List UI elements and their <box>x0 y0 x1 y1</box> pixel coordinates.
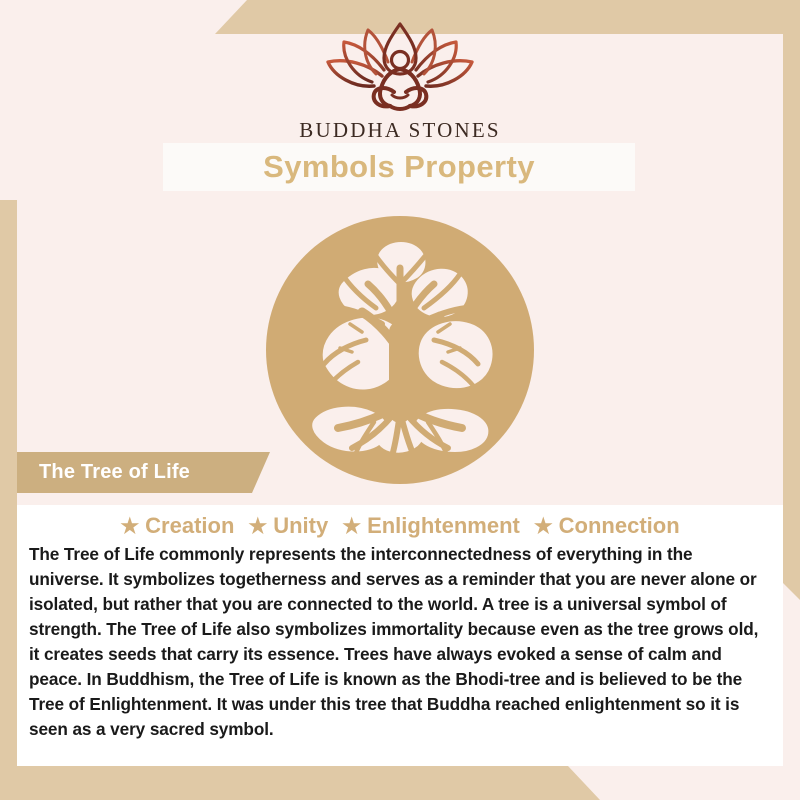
content-card: ★ Creation ★ Unity ★ Enlightenment ★ Con… <box>17 505 783 766</box>
title-banner: Symbols Property <box>163 143 635 191</box>
keyword-label: Unity <box>273 513 328 539</box>
keyword-label: Connection <box>559 513 680 539</box>
keyword-item: ★ Enlightenment <box>342 513 520 539</box>
poster-page: BUDDHA STONES Symbols Property <box>0 0 800 800</box>
lotus-meditation-figure-icon <box>310 18 490 114</box>
tree-of-life-icon <box>262 212 538 488</box>
tree-of-life-figure <box>262 212 538 488</box>
keyword-item: ★ Unity <box>248 513 328 539</box>
star-icon: ★ <box>534 516 553 537</box>
section-tab-tree-of-life: The Tree of Life <box>17 452 270 493</box>
keyword-item: ★ Creation <box>120 513 234 539</box>
star-icon: ★ <box>120 516 139 537</box>
decorative-edge-left <box>0 200 17 800</box>
section-tab-label: The Tree of Life <box>17 461 190 484</box>
decorative-corner-bottom-left <box>0 766 600 800</box>
keyword-list: ★ Creation ★ Unity ★ Enlightenment ★ Con… <box>17 505 783 539</box>
keyword-item: ★ Connection <box>534 513 680 539</box>
star-icon: ★ <box>342 516 361 537</box>
star-icon: ★ <box>248 516 267 537</box>
brand-wordmark: BUDDHA STONES <box>0 118 800 143</box>
keyword-label: Creation <box>145 513 234 539</box>
page-title: Symbols Property <box>263 149 535 185</box>
brand-logo-block: BUDDHA STONES <box>0 18 800 143</box>
keyword-label: Enlightenment <box>367 513 520 539</box>
body-paragraph: The Tree of Life commonly represents the… <box>29 542 771 742</box>
